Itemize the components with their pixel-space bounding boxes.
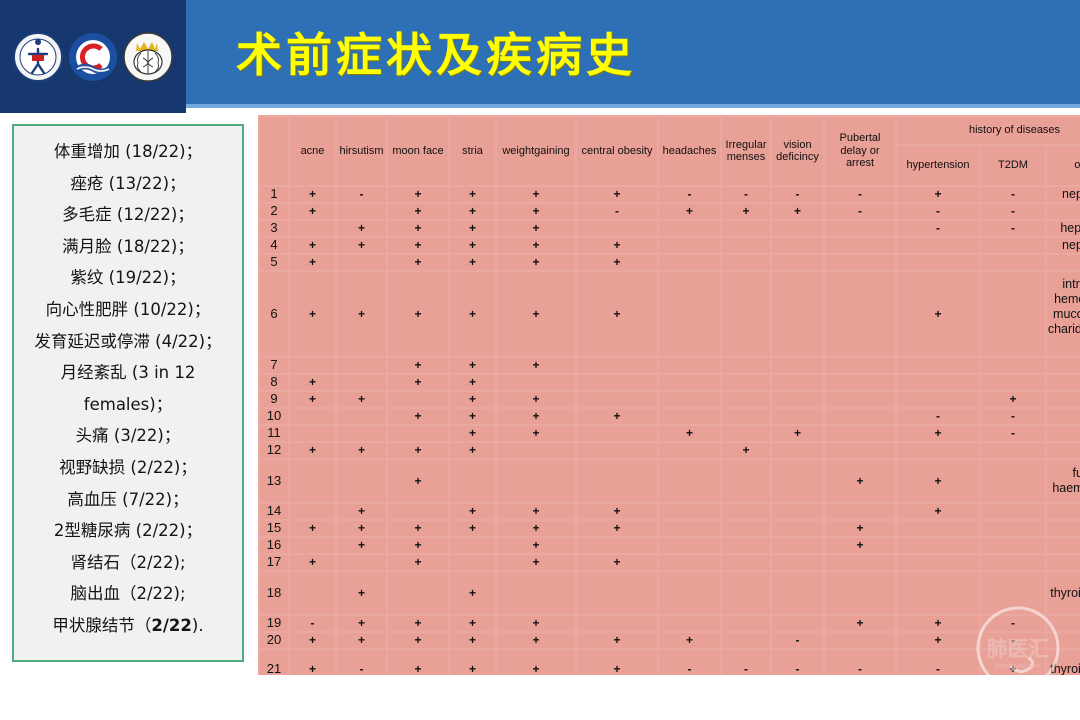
- table-row[interactable]: 17++++: [260, 555, 1080, 570]
- cell-others: intrcranial hemorrhage, mucopolysac char…: [1047, 272, 1080, 356]
- table-row[interactable]: 10++++--: [260, 409, 1080, 424]
- cell-hypertension: -: [897, 650, 979, 675]
- cell-hypertension: [897, 238, 979, 253]
- table-row[interactable]: 13+++fundal haemorrhage: [260, 460, 1080, 502]
- cell-others: thyroid nodule: [1047, 650, 1080, 675]
- cell-acne: +: [290, 375, 335, 390]
- cell-irregular_menses: [722, 521, 770, 536]
- cell-irregular_menses: [722, 255, 770, 270]
- cell-hirsutism: [337, 426, 386, 441]
- cell-stria: +: [450, 375, 495, 390]
- cell-weightgaining: [497, 460, 575, 502]
- cell-hirsutism: [337, 375, 386, 390]
- cell-acne: [290, 426, 335, 441]
- table-row[interactable]: 14+++++: [260, 504, 1080, 519]
- table-row[interactable]: 18++thyroid nodule: [260, 572, 1080, 614]
- cell-headaches: [659, 460, 720, 502]
- cell-stria: [450, 460, 495, 502]
- symptom-summary-panel: 体重增加 (18/22)；痤疮 (13/22)；多毛症 (12/22)；满月脸 …: [12, 124, 244, 662]
- cell-central_obesity: +: [577, 272, 657, 356]
- table-row[interactable]: 21+-++++-----+thyroid nodule: [260, 650, 1080, 675]
- slide-title-bar: 术前症状及疾病史: [186, 0, 1080, 104]
- cell-vision_deficiency: +: [772, 204, 823, 219]
- table-row[interactable]: 12+++++: [260, 443, 1080, 458]
- symptom-line: 发育延迟或停滞 (4/22)；: [34, 326, 221, 358]
- cell-stria: +: [450, 358, 495, 373]
- cell-hypertension: +: [897, 426, 979, 441]
- cell-others: [1047, 616, 1080, 631]
- cell-central_obesity: +: [577, 238, 657, 253]
- cell-vision_deficiency: [772, 460, 823, 502]
- table-body: 1+-++++----+-nephrolith2++++-+++---3++++…: [260, 187, 1080, 675]
- cell-t2dm: [981, 443, 1045, 458]
- cell-central_obesity: [577, 358, 657, 373]
- logo-panel: [0, 0, 186, 113]
- table-row[interactable]: 8+++: [260, 375, 1080, 390]
- cell-hirsutism: +: [337, 272, 386, 356]
- table-row[interactable]: 3++++--hepatitis B: [260, 221, 1080, 236]
- col-header-index: [260, 117, 288, 185]
- cell-vision_deficiency: -: [772, 650, 823, 675]
- cell-vision_deficiency: [772, 572, 823, 614]
- cell-stria: +: [450, 272, 495, 356]
- cell-headaches: [659, 504, 720, 519]
- cell-vision_deficiency: [772, 392, 823, 407]
- cell-weightgaining: +: [497, 650, 575, 675]
- cell-vision_deficiency: [772, 504, 823, 519]
- patient-symptom-table-container[interactable]: acne hirsutism moon face stria weightgai…: [258, 115, 1080, 675]
- cell-hypertension: -: [897, 204, 979, 219]
- cell-t2dm: [981, 555, 1045, 570]
- cell-acne: [290, 221, 335, 236]
- cell-vision_deficiency: [772, 555, 823, 570]
- row-index-cell: 6: [260, 272, 288, 356]
- cell-headaches: [659, 616, 720, 631]
- cell-vision_deficiency: [772, 521, 823, 536]
- slide-header: 术前症状及疾病史: [0, 0, 1080, 113]
- cell-weightgaining: +: [497, 555, 575, 570]
- cell-weightgaining: [497, 375, 575, 390]
- col-header-stria: stria: [450, 117, 495, 185]
- cell-weightgaining: [497, 443, 575, 458]
- cell-hirsutism: +: [337, 572, 386, 614]
- col-header-vision-deficiency: vision deficincy: [772, 117, 823, 185]
- table-row[interactable]: 9+++++: [260, 392, 1080, 407]
- col-header-t2dm: T2DM: [981, 146, 1045, 185]
- cell-others: [1047, 521, 1080, 536]
- symptom-line: 体重增加 (18/22)；: [54, 136, 202, 168]
- cell-moon_face: [388, 426, 448, 441]
- cell-central_obesity: [577, 538, 657, 553]
- cell-vision_deficiency: [772, 255, 823, 270]
- row-index-cell: 11: [260, 426, 288, 441]
- cell-vision_deficiency: [772, 616, 823, 631]
- cell-stria: +: [450, 426, 495, 441]
- cell-headaches: [659, 538, 720, 553]
- cell-others: thyroid nodule: [1047, 572, 1080, 614]
- cell-weightgaining: +: [497, 187, 575, 202]
- cell-weightgaining: +: [497, 504, 575, 519]
- cell-hypertension: +: [897, 187, 979, 202]
- cell-pubertal_delay: [825, 572, 895, 614]
- header-row-main: acne hirsutism moon face stria weightgai…: [260, 117, 1080, 144]
- cell-hirsutism: -: [337, 650, 386, 675]
- cell-vision_deficiency: [772, 538, 823, 553]
- cell-central_obesity: +: [577, 255, 657, 270]
- row-index-cell: 1: [260, 187, 288, 202]
- cell-weightgaining: +: [497, 426, 575, 441]
- cell-vision_deficiency: [772, 409, 823, 424]
- cell-pubertal_delay: -: [825, 204, 895, 219]
- table-row[interactable]: 19-++++++-: [260, 616, 1080, 631]
- cell-moon_face: +: [388, 555, 448, 570]
- cell-stria: +: [450, 572, 495, 614]
- cell-pubertal_delay: -: [825, 187, 895, 202]
- cell-pubertal_delay: +: [825, 521, 895, 536]
- cell-pubertal_delay: [825, 426, 895, 441]
- cell-central_obesity: +: [577, 504, 657, 519]
- cell-pubertal_delay: [825, 443, 895, 458]
- cell-hypertension: +: [897, 460, 979, 502]
- cell-others: nephrolith: [1047, 187, 1080, 202]
- patient-symptom-table: acne hirsutism moon face stria weightgai…: [258, 115, 1080, 675]
- cell-stria: +: [450, 255, 495, 270]
- symptom-line: 紫纹 (19/22)；: [70, 262, 185, 294]
- cell-hirsutism: [337, 204, 386, 219]
- cell-hirsutism: [337, 460, 386, 502]
- cell-acne: +: [290, 255, 335, 270]
- cell-pubertal_delay: [825, 633, 895, 648]
- cell-pubertal_delay: [825, 358, 895, 373]
- col-header-hirsutism: hirsutism: [337, 117, 386, 185]
- cell-moon_face: +: [388, 633, 448, 648]
- symptom-line: 脑出血（2/22);: [70, 578, 185, 610]
- cell-pubertal_delay: +: [825, 616, 895, 631]
- cell-moon_face: +: [388, 616, 448, 631]
- cell-stria: +: [450, 187, 495, 202]
- cell-acne: [290, 504, 335, 519]
- row-index-cell: 18: [260, 572, 288, 614]
- cell-headaches: [659, 358, 720, 373]
- cell-irregular_menses: [722, 426, 770, 441]
- cell-irregular_menses: +: [722, 204, 770, 219]
- cell-others: [1047, 358, 1080, 373]
- cell-weightgaining: +: [497, 409, 575, 424]
- symptom-line: 满月脸 (18/22)；: [62, 231, 194, 263]
- cell-irregular_menses: [722, 555, 770, 570]
- cell-central_obesity: +: [577, 521, 657, 536]
- row-index-cell: 21: [260, 650, 288, 675]
- row-index-cell: 13: [260, 460, 288, 502]
- cell-pubertal_delay: [825, 255, 895, 270]
- table-row[interactable]: 6+++++++intrcranial hemorrhage, mucopoly…: [260, 272, 1080, 356]
- col-header-headaches: headaches: [659, 117, 720, 185]
- cell-headaches: [659, 375, 720, 390]
- cell-pubertal_delay: [825, 392, 895, 407]
- cell-stria: +: [450, 504, 495, 519]
- cell-irregular_menses: [722, 409, 770, 424]
- cell-pubertal_delay: [825, 238, 895, 253]
- cell-hypertension: [897, 392, 979, 407]
- col-header-central-obesity: central obesity: [577, 117, 657, 185]
- cell-acne: +: [290, 392, 335, 407]
- cell-central_obesity: [577, 375, 657, 390]
- col-header-hypertension: hypertension: [897, 146, 979, 185]
- cell-vision_deficiency: [772, 238, 823, 253]
- cell-moon_face: +: [388, 538, 448, 553]
- col-header-pubertal-delay: Pubertal delay or arrest: [825, 117, 895, 185]
- cell-hirsutism: -: [337, 187, 386, 202]
- cell-pubertal_delay: [825, 375, 895, 390]
- symptom-line: 向心性肥胖 (10/22)；: [46, 294, 211, 326]
- cell-central_obesity: +: [577, 409, 657, 424]
- cell-pubertal_delay: [825, 272, 895, 356]
- symptom-line: 甲状腺结节（2/22).: [52, 610, 203, 642]
- cell-t2dm: -: [981, 221, 1045, 236]
- cell-headaches: [659, 272, 720, 356]
- cell-weightgaining: +: [497, 221, 575, 236]
- cell-headaches: [659, 572, 720, 614]
- cell-stria: +: [450, 633, 495, 648]
- cell-others: [1047, 255, 1080, 270]
- cell-hypertension: -: [897, 409, 979, 424]
- cell-moon_face: +: [388, 255, 448, 270]
- cell-acne: +: [290, 633, 335, 648]
- cell-t2dm: [981, 375, 1045, 390]
- cell-moon_face: +: [388, 187, 448, 202]
- cell-moon_face: +: [388, 650, 448, 675]
- cell-central_obesity: [577, 392, 657, 407]
- cell-weightgaining: +: [497, 272, 575, 356]
- cell-t2dm: [981, 255, 1045, 270]
- page-title: 术前症状及疾病史: [236, 19, 636, 85]
- cell-vision_deficiency: [772, 375, 823, 390]
- table-row[interactable]: 2++++-+++---: [260, 204, 1080, 219]
- row-index-cell: 10: [260, 409, 288, 424]
- cell-moon_face: +: [388, 375, 448, 390]
- cell-t2dm: -: [981, 187, 1045, 202]
- cell-moon_face: +: [388, 443, 448, 458]
- cell-hypertension: [897, 538, 979, 553]
- cell-vision_deficiency: [772, 221, 823, 236]
- cell-acne: -: [290, 616, 335, 631]
- cell-moon_face: +: [388, 204, 448, 219]
- cell-t2dm: -: [981, 409, 1045, 424]
- cell-irregular_menses: [722, 238, 770, 253]
- cell-central_obesity: +: [577, 650, 657, 675]
- cell-hirsutism: +: [337, 238, 386, 253]
- cell-hirsutism: +: [337, 443, 386, 458]
- row-index-cell: 2: [260, 204, 288, 219]
- cell-central_obesity: [577, 460, 657, 502]
- col-group-header-history-of-diseases: history of diseases: [897, 117, 1080, 144]
- cell-stria: +: [450, 392, 495, 407]
- cell-irregular_menses: [722, 460, 770, 502]
- row-index-cell: 16: [260, 538, 288, 553]
- table-row[interactable]: 16++++: [260, 538, 1080, 553]
- cell-irregular_menses: [722, 375, 770, 390]
- cell-vision_deficiency: [772, 358, 823, 373]
- cell-irregular_menses: [722, 633, 770, 648]
- cell-central_obesity: [577, 572, 657, 614]
- cell-irregular_menses: [722, 221, 770, 236]
- table-row[interactable]: 7+++: [260, 358, 1080, 373]
- cell-t2dm: [981, 572, 1045, 614]
- symptom-line: 视野缺损 (2/22)；: [59, 452, 197, 484]
- cell-headaches: [659, 443, 720, 458]
- cell-central_obesity: [577, 426, 657, 441]
- cell-t2dm: +: [981, 650, 1045, 675]
- cell-hypertension: [897, 255, 979, 270]
- cell-headaches: [659, 392, 720, 407]
- cell-pubertal_delay: +: [825, 538, 895, 553]
- cell-stria: +: [450, 238, 495, 253]
- cell-weightgaining: [497, 572, 575, 614]
- hospital-emblem-icon: [13, 32, 63, 82]
- cell-weightgaining: +: [497, 392, 575, 407]
- cell-central_obesity: [577, 443, 657, 458]
- cell-irregular_menses: [722, 358, 770, 373]
- cell-stria: [450, 555, 495, 570]
- col-header-moon-face: moon face: [388, 117, 448, 185]
- cell-t2dm: +: [981, 392, 1045, 407]
- cell-hirsutism: [337, 555, 386, 570]
- cell-moon_face: +: [388, 521, 448, 536]
- symptom-line: 2型糖尿病 (2/22)；: [54, 515, 202, 547]
- cell-moon_face: [388, 572, 448, 614]
- cell-moon_face: +: [388, 238, 448, 253]
- symptom-line: 肾结石（2/22);: [70, 547, 185, 579]
- center-c-emblem-icon: [68, 32, 118, 82]
- cell-others: [1047, 633, 1080, 648]
- cell-moon_face: +: [388, 272, 448, 356]
- cell-weightgaining: +: [497, 255, 575, 270]
- cell-hirsutism: +: [337, 521, 386, 536]
- cell-others: nephrolith: [1047, 238, 1080, 253]
- cell-t2dm: [981, 238, 1045, 253]
- cell-central_obesity: +: [577, 555, 657, 570]
- cell-hirsutism: +: [337, 616, 386, 631]
- cell-acne: +: [290, 238, 335, 253]
- cell-weightgaining: +: [497, 616, 575, 631]
- table-row[interactable]: 5+++++: [260, 255, 1080, 270]
- table-row[interactable]: 11+++++-: [260, 426, 1080, 441]
- row-index-cell: 9: [260, 392, 288, 407]
- cell-hypertension: -: [897, 221, 979, 236]
- cell-hypertension: [897, 358, 979, 373]
- cell-others: fundal haemorrhage: [1047, 460, 1080, 502]
- cell-hirsutism: +: [337, 633, 386, 648]
- cell-others: [1047, 426, 1080, 441]
- cell-others: [1047, 375, 1080, 390]
- symptom-line: 头痛 (3/22)；: [76, 420, 181, 452]
- cell-headaches: -: [659, 650, 720, 675]
- cell-headaches: +: [659, 426, 720, 441]
- cell-moon_face: [388, 392, 448, 407]
- cell-pubertal_delay: [825, 221, 895, 236]
- cell-others: [1047, 392, 1080, 407]
- cell-weightgaining: +: [497, 238, 575, 253]
- table-row[interactable]: 20+++++++-+-: [260, 633, 1080, 648]
- col-header-weightgaining: weightgaining: [497, 117, 575, 185]
- cell-t2dm: -: [981, 204, 1045, 219]
- cell-pubertal_delay: [825, 555, 895, 570]
- col-header-irregular-menses: Irregular menses: [722, 117, 770, 185]
- row-index-cell: 5: [260, 255, 288, 270]
- row-index-cell: 12: [260, 443, 288, 458]
- cell-headaches: [659, 521, 720, 536]
- row-index-cell: 3: [260, 221, 288, 236]
- cell-vision_deficiency: -: [772, 187, 823, 202]
- symptom-line: 多毛症 (12/22)；: [62, 199, 194, 231]
- cell-irregular_menses: -: [722, 650, 770, 675]
- row-index-cell: 15: [260, 521, 288, 536]
- cell-acne: +: [290, 521, 335, 536]
- row-index-cell: 17: [260, 555, 288, 570]
- row-index-cell: 7: [260, 358, 288, 373]
- table-row[interactable]: 15+++++++: [260, 521, 1080, 536]
- cell-others: [1047, 555, 1080, 570]
- cell-moon_face: [388, 504, 448, 519]
- cell-hypertension: [897, 443, 979, 458]
- cell-headaches: [659, 238, 720, 253]
- cell-weightgaining: +: [497, 521, 575, 536]
- cell-stria: +: [450, 221, 495, 236]
- cell-central_obesity: +: [577, 633, 657, 648]
- cell-vision_deficiency: [772, 443, 823, 458]
- cell-central_obesity: [577, 616, 657, 631]
- cell-t2dm: [981, 504, 1045, 519]
- cell-hypertension: +: [897, 633, 979, 648]
- cell-moon_face: +: [388, 221, 448, 236]
- table-row[interactable]: 1+-++++----+-nephrolith: [260, 187, 1080, 202]
- cell-others: [1047, 538, 1080, 553]
- brain-crown-emblem-icon: [123, 32, 173, 82]
- cell-acne: +: [290, 272, 335, 356]
- cell-t2dm: [981, 521, 1045, 536]
- cell-stria: +: [450, 650, 495, 675]
- cell-acne: +: [290, 443, 335, 458]
- cell-hypertension: [897, 572, 979, 614]
- cell-weightgaining: +: [497, 633, 575, 648]
- row-index-cell: 8: [260, 375, 288, 390]
- table-row[interactable]: 4++++++nephrolith: [260, 238, 1080, 253]
- cell-stria: +: [450, 521, 495, 536]
- cell-acne: +: [290, 187, 335, 202]
- cell-irregular_menses: [722, 572, 770, 614]
- cell-irregular_menses: -: [722, 187, 770, 202]
- cell-stria: [450, 538, 495, 553]
- cell-others: [1047, 409, 1080, 424]
- cell-stria: +: [450, 409, 495, 424]
- cell-acne: [290, 460, 335, 502]
- cell-pubertal_delay: +: [825, 460, 895, 502]
- cell-hirsutism: +: [337, 538, 386, 553]
- symptom-line: females)；: [84, 389, 172, 421]
- cell-moon_face: +: [388, 460, 448, 502]
- row-index-cell: 19: [260, 616, 288, 631]
- cell-irregular_menses: +: [722, 443, 770, 458]
- cell-moon_face: +: [388, 358, 448, 373]
- cell-headaches: [659, 409, 720, 424]
- cell-stria: +: [450, 204, 495, 219]
- cell-t2dm: [981, 538, 1045, 553]
- cell-hypertension: [897, 555, 979, 570]
- cell-others: [1047, 443, 1080, 458]
- cell-central_obesity: -: [577, 204, 657, 219]
- cell-weightgaining: +: [497, 358, 575, 373]
- cell-irregular_menses: [722, 616, 770, 631]
